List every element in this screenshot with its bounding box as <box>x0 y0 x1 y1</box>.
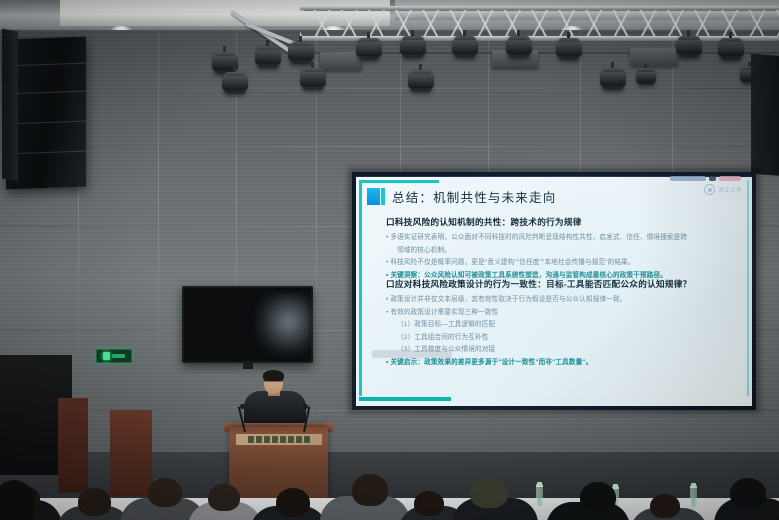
ppt-record-chip[interactable] <box>709 176 716 181</box>
slide-frame-bottom <box>359 397 451 401</box>
line-array-speaker-left <box>6 37 86 190</box>
stage-spotlight <box>222 66 248 100</box>
stage-spotlight <box>400 30 426 64</box>
slide-frame-left <box>359 180 362 396</box>
wall-monitor[interactable] <box>182 286 313 363</box>
exit-label-glyph <box>112 354 125 358</box>
university-logo-icon <box>704 184 715 195</box>
wall-seam-h <box>0 146 779 147</box>
stage-spotlight <box>300 62 326 96</box>
water-bottle <box>536 484 543 506</box>
presenter-glasses <box>266 380 281 384</box>
university-watermark-text: 浙江大学 <box>718 186 742 194</box>
audience-head <box>730 478 766 508</box>
audience-head <box>650 494 680 518</box>
audience-head <box>414 491 444 516</box>
bullet-line: • 科技风险不仅是概率问题，更是"意义建构""信任度""本地社会传播与规范"的结… <box>386 256 746 266</box>
ppt-toolbar[interactable] <box>667 176 744 182</box>
ppt-title-chip <box>670 176 706 181</box>
stage-spotlight <box>556 32 582 66</box>
stage-spotlight <box>356 32 382 66</box>
bullet-line: • 多语实证研究表明，公众面对不同科技时的风险判断呈现结构性共性，启发式、信任、… <box>386 231 746 241</box>
line-array-speaker-side <box>2 29 18 182</box>
slide-title: 总结：机制共性与未来走向 <box>392 187 556 206</box>
title-accent-block <box>367 188 380 205</box>
audience-head <box>470 478 508 508</box>
stage-spotlight <box>408 64 434 98</box>
ppt-status-chip <box>719 176 741 181</box>
stage-spotlight <box>636 64 656 90</box>
projection-screen: 总结：机制共性与未来走向 浙江大学 口科技风险的认知机制的共性：跨技术的行为规律… <box>352 172 756 410</box>
section-heading: 口科技风险的认知机制的共性：跨技术的行为规律 <box>386 216 746 228</box>
university-watermark: 浙江大学 <box>704 184 742 195</box>
audience-head <box>276 488 310 517</box>
emergency-exit-sign <box>96 349 132 363</box>
stage-spotlight <box>600 62 626 96</box>
stage-spotlight <box>718 32 744 66</box>
monitor-glare <box>255 294 311 356</box>
audience-member <box>0 480 34 520</box>
bullet-line: （1）政策目标—工具逻辑的匹配 <box>386 318 746 328</box>
monitor-mount <box>243 363 253 369</box>
presentation-slide[interactable]: 总结：机制共性与未来走向 浙江大学 口科技风险的认知机制的共性：跨技术的行为规律… <box>356 176 752 406</box>
bullet-line: （2）工具组合间的行为互补性 <box>386 331 746 341</box>
stage-spotlight <box>255 40 281 74</box>
stage-spotlight <box>506 30 532 64</box>
slide-highlight-smudge <box>372 350 452 358</box>
water-bottle <box>690 485 697 507</box>
wall-seam <box>158 30 159 480</box>
section-heading: 口应对科技风险政策设计的行为一致性：目标-工具能否匹配公众的认知规律？ <box>386 278 746 290</box>
exit-running-man-icon <box>103 352 110 360</box>
audience-head <box>580 482 616 512</box>
bullet-line: • 有效的政策设计需要实现三种一致性 <box>386 306 746 316</box>
slide-section-1: 口科技风险的认知机制的共性：跨技术的行为规律 • 多语实证研究表明，公众面对不同… <box>386 216 746 281</box>
stage-spotlight <box>452 30 478 64</box>
podium-microphone-head <box>303 404 308 409</box>
slide-frame-right <box>747 180 749 396</box>
stage-spotlight <box>676 30 702 64</box>
bullet-line: 领域的核心机制。 <box>386 244 746 254</box>
audience-head <box>148 478 182 507</box>
audience-head <box>208 484 240 511</box>
podium-microphone-head <box>240 404 245 409</box>
audience-area <box>0 436 779 520</box>
conference-hall-photo: 总结：机制共性与未来走向 浙江大学 口科技风险的认知机制的共性：跨技术的行为规律… <box>0 0 779 520</box>
slide-frame-top <box>359 180 439 183</box>
audience-head <box>352 474 388 506</box>
title-accent-bar <box>381 188 385 205</box>
audience-head <box>78 488 111 516</box>
bullet-line: • 政策设计并非仅文本层级，其有效性取决于行为假设是否与公众认知规律一致。 <box>386 293 746 303</box>
wall-seam <box>316 30 317 480</box>
line-array-speaker-right <box>751 54 779 176</box>
